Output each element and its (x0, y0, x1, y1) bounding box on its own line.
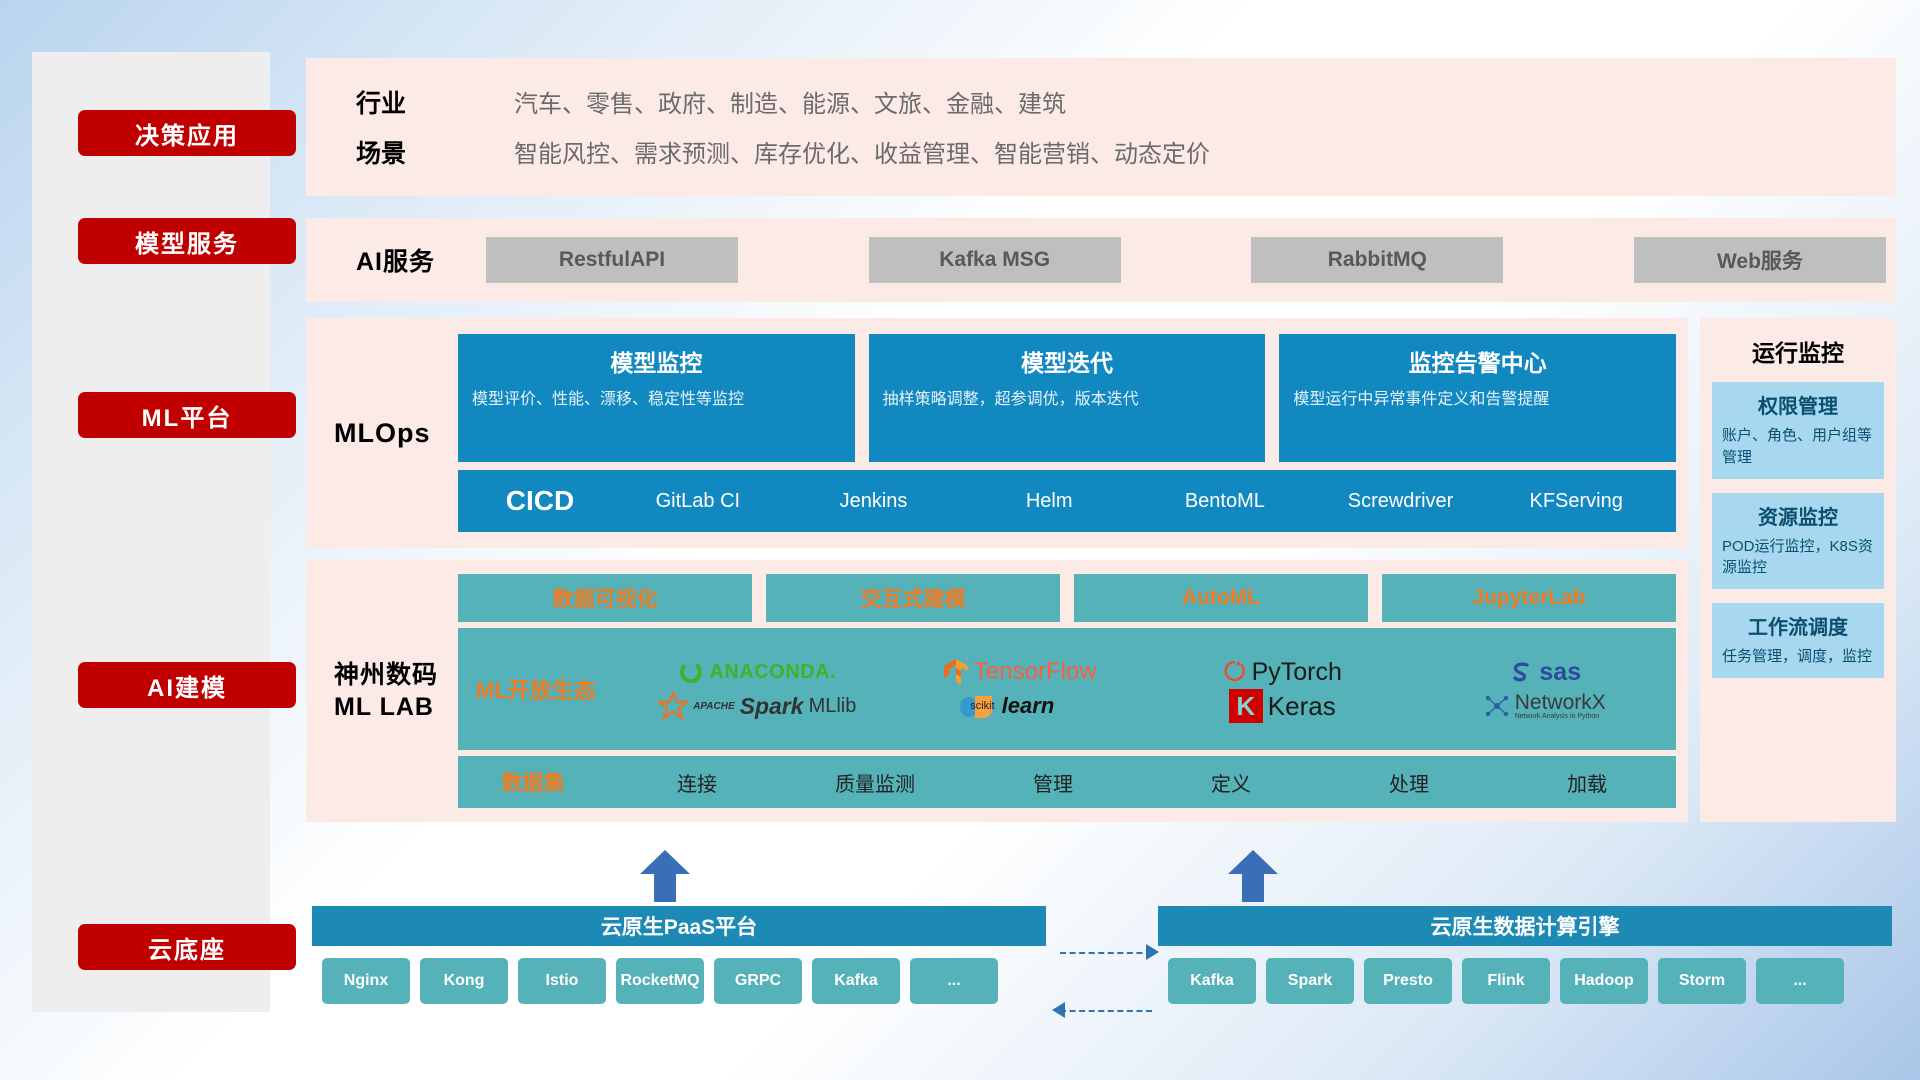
networkx-label: NetworkX (1515, 692, 1606, 713)
monitor-card-permission[interactable]: 权限管理 账户、角色、用户组等管理 (1712, 382, 1884, 479)
spark-mllib-logo: APACHE Spark MLlib (626, 691, 889, 721)
data-engine-bar[interactable]: 云原生数据计算引擎 (1158, 906, 1892, 946)
pill-kafka-left[interactable]: Kafka (812, 958, 900, 1004)
dataset-item-define[interactable]: 定义 (1142, 768, 1320, 797)
pill-grpc[interactable]: GRPC (714, 958, 802, 1004)
dataset-bar: 数据集 连接 质量监测 管理 定义 处理 加载 (458, 756, 1676, 808)
tab-data-visualization[interactable]: 数据可视化 (458, 574, 752, 622)
business-band: 行业 汽车、零售、政府、制造、能源、文旅、金融、建筑 场景 智能风控、需求预测、… (306, 58, 1896, 196)
ai-modeling-band: 神州数码 ML LAB 数据可视化 交互式建模 AutoML JupyterLa… (306, 560, 1688, 822)
ml-lab-label: 神州数码 ML LAB (306, 659, 458, 724)
cicd-item-jenkins[interactable]: Jenkins (786, 491, 962, 512)
tab-automl[interactable]: AutoML (1074, 574, 1368, 622)
rail-item-ai-modeling[interactable]: AI建模 (78, 662, 296, 708)
card-desc: 模型评价、性能、漂移、稳定性等监控 (472, 388, 841, 411)
pill-nginx[interactable]: Nginx (322, 958, 410, 1004)
scikit-label: scikit (970, 700, 994, 712)
cicd-item-gitlab-ci[interactable]: GitLab CI (610, 491, 786, 512)
mlops-card-model-iteration[interactable]: 模型迭代 抽样策略调整，超参调优，版本迭代 (869, 334, 1266, 462)
ml-ecosystem-title: ML开放生态 (476, 673, 626, 705)
dataset-item-row: 连接 质量监测 管理 定义 处理 加载 (608, 768, 1676, 797)
pill-presto[interactable]: Presto (1364, 958, 1452, 1004)
dataset-item-process[interactable]: 处理 (1320, 768, 1498, 797)
card-desc: 账户、角色、用户组等管理 (1722, 425, 1874, 469)
runtime-monitoring-title: 运行监控 (1712, 334, 1884, 368)
card-desc: POD运行监控，K8S资源监控 (1722, 536, 1874, 580)
pytorch-logo: PyTorch (1151, 658, 1414, 687)
card-desc: 模型运行中异常事件定义和告警提醒 (1293, 388, 1662, 411)
service-chip-web-service[interactable]: Web服务 (1634, 237, 1886, 283)
pill-kong[interactable]: Kong (420, 958, 508, 1004)
mlops-band: MLOps 模型监控 模型评价、性能、漂移、稳定性等监控 模型迭代 抽样策略调整… (306, 318, 1688, 548)
keras-logo: K Keras (1151, 689, 1414, 723)
mllib-label: MLlib (809, 695, 857, 718)
rail-item-decision-app[interactable]: 决策应用 (78, 110, 296, 156)
architecture-diagram: 决策应用 模型服务 ML平台 AI建模 云底座 行业 汽车、零售、政府、制造、能… (0, 0, 1920, 1080)
pytorch-label: PyTorch (1252, 658, 1342, 687)
spark-apache-label: APACHE (693, 701, 734, 712)
card-title: 模型监控 (472, 344, 841, 378)
dataset-item-connect[interactable]: 连接 (608, 768, 786, 797)
paas-pill-row: Nginx Kong Istio RocketMQ GRPC Kafka ... (322, 958, 998, 1004)
rail-label: AI建模 (147, 668, 227, 703)
cicd-item-row: GitLab CI Jenkins Helm BentoML Screwdriv… (610, 491, 1664, 512)
tensorflow-label: TensorFlow (974, 658, 1097, 686)
card-title: 模型迭代 (883, 344, 1252, 378)
card-title: 工作流调度 (1722, 611, 1874, 640)
cicd-title: CICD (470, 485, 610, 517)
pytorch-icon (1223, 658, 1247, 686)
cicd-item-kfserving[interactable]: KFServing (1488, 491, 1664, 512)
sas-icon (1508, 659, 1534, 685)
dashed-connector-right (1060, 952, 1152, 954)
mlops-card-alert-center[interactable]: 监控告警中心 模型运行中异常事件定义和告警提醒 (1279, 334, 1676, 462)
ml-lab-label-line1: 神州数码 (334, 659, 458, 692)
arrow-up-engine-icon (1228, 850, 1278, 902)
service-chip-restfulapi[interactable]: RestfulAPI (486, 237, 738, 283)
tab-interactive-modeling[interactable]: 交互式建模 (766, 574, 1060, 622)
service-chip-kafka-msg[interactable]: Kafka MSG (869, 237, 1121, 283)
dataset-item-load[interactable]: 加载 (1498, 768, 1676, 797)
industry-label: 行业 (334, 84, 514, 120)
monitor-card-workflow[interactable]: 工作流调度 任务管理，调度，监控 (1712, 603, 1884, 678)
rail-item-cloud-base[interactable]: 云底座 (78, 924, 296, 970)
engine-pill-row: Kafka Spark Presto Flink Hadoop Storm ..… (1168, 958, 1844, 1004)
card-desc: 抽样策略调整，超参调优，版本迭代 (883, 388, 1252, 411)
dashed-connector-left (1060, 1010, 1152, 1012)
mlops-card-model-monitoring[interactable]: 模型监控 模型评价、性能、漂移、稳定性等监控 (458, 334, 855, 462)
scikit-learn-logo: scikit learn (889, 692, 1152, 720)
networkx-sub-label: Network Analysis in Python (1515, 713, 1606, 720)
tab-jupyterlab[interactable]: JupyterLab (1382, 574, 1676, 622)
scenario-label: 场景 (334, 134, 514, 170)
pill-spark[interactable]: Spark (1266, 958, 1354, 1004)
keras-mark: K (1229, 689, 1263, 723)
layer-rail: 决策应用 模型服务 ML平台 AI建模 云底座 (32, 52, 270, 1012)
modeling-tab-row: 数据可视化 交互式建模 AutoML JupyterLab (458, 574, 1676, 622)
dashed-arrow-right-icon (1146, 944, 1160, 960)
pill-more-right[interactable]: ... (1756, 958, 1844, 1004)
ml-ecosystem-panel: ML开放生态 ANACONDA. (458, 628, 1676, 750)
tensorflow-icon (943, 658, 969, 686)
spark-star-icon (658, 691, 688, 721)
anaconda-label: ANACONDA. (709, 661, 836, 684)
card-desc: 任务管理，调度，监控 (1722, 646, 1874, 668)
industry-values: 汽车、零售、政府、制造、能源、文旅、金融、建筑 (514, 84, 1896, 120)
rail-label: 决策应用 (135, 116, 239, 151)
dataset-item-manage[interactable]: 管理 (964, 768, 1142, 797)
pill-storm[interactable]: Storm (1658, 958, 1746, 1004)
networkx-logo: NetworkX Network Analysis in Python (1414, 692, 1677, 720)
pill-rocketmq[interactable]: RocketMQ (616, 958, 704, 1004)
cicd-item-bentoml[interactable]: BentoML (1137, 491, 1313, 512)
ml-lab-label-line2: ML LAB (334, 691, 458, 724)
dataset-title: 数据集 (458, 767, 608, 797)
ai-service-label: AI服务 (334, 242, 486, 278)
tensorflow-logo: TensorFlow (889, 658, 1152, 686)
cicd-bar: CICD GitLab CI Jenkins Helm BentoML Scre… (458, 470, 1676, 532)
mlops-card-row: 模型监控 模型评价、性能、漂移、稳定性等监控 模型迭代 抽样策略调整，超参调优，… (458, 334, 1676, 462)
dashed-arrow-left-icon (1052, 1002, 1066, 1018)
paas-platform-bar[interactable]: 云原生PaaS平台 (312, 906, 1046, 946)
card-title: 资源监控 (1722, 501, 1874, 530)
pill-istio[interactable]: Istio (518, 958, 606, 1004)
arrow-up-paas-icon (640, 850, 690, 902)
dataset-item-quality[interactable]: 质量监测 (786, 768, 964, 797)
cicd-item-helm[interactable]: Helm (961, 491, 1137, 512)
mlops-label: MLOps (306, 418, 458, 449)
keras-label: Keras (1268, 691, 1336, 722)
learn-label: learn (1002, 693, 1055, 719)
service-chip-rabbitmq[interactable]: RabbitMQ (1251, 237, 1503, 283)
ai-service-chip-row: RestfulAPI Kafka MSG RabbitMQ Web服务 (486, 237, 1896, 283)
rail-label: 模型服务 (135, 224, 239, 259)
anaconda-logo: ANACONDA. (626, 659, 889, 685)
pill-hadoop[interactable]: Hadoop (1560, 958, 1648, 1004)
rail-label: ML平台 (142, 398, 233, 433)
rail-label: 云底座 (148, 930, 226, 965)
rail-item-model-service[interactable]: 模型服务 (78, 218, 296, 264)
scenario-values: 智能风控、需求预测、库存优化、收益管理、智能营销、动态定价 (514, 134, 1896, 170)
monitor-card-resource[interactable]: 资源监控 POD运行监控，K8S资源监控 (1712, 493, 1884, 590)
pill-more-left[interactable]: ... (910, 958, 998, 1004)
sas-label: sas (1539, 658, 1581, 687)
cicd-item-screwdriver[interactable]: Screwdriver (1313, 491, 1489, 512)
rail-item-ml-platform[interactable]: ML平台 (78, 392, 296, 438)
card-title: 权限管理 (1722, 390, 1874, 419)
ai-service-band: AI服务 RestfulAPI Kafka MSG RabbitMQ Web服务 (306, 218, 1896, 302)
spark-label: Spark (740, 693, 804, 720)
pill-kafka-right[interactable]: Kafka (1168, 958, 1256, 1004)
pill-flink[interactable]: Flink (1462, 958, 1550, 1004)
card-title: 监控告警中心 (1293, 344, 1662, 378)
sas-logo: sas (1414, 658, 1677, 687)
anaconda-icon (678, 659, 704, 685)
networkx-icon (1484, 693, 1510, 719)
runtime-monitoring-panel: 运行监控 权限管理 账户、角色、用户组等管理 资源监控 POD运行监控，K8S资… (1700, 318, 1896, 822)
